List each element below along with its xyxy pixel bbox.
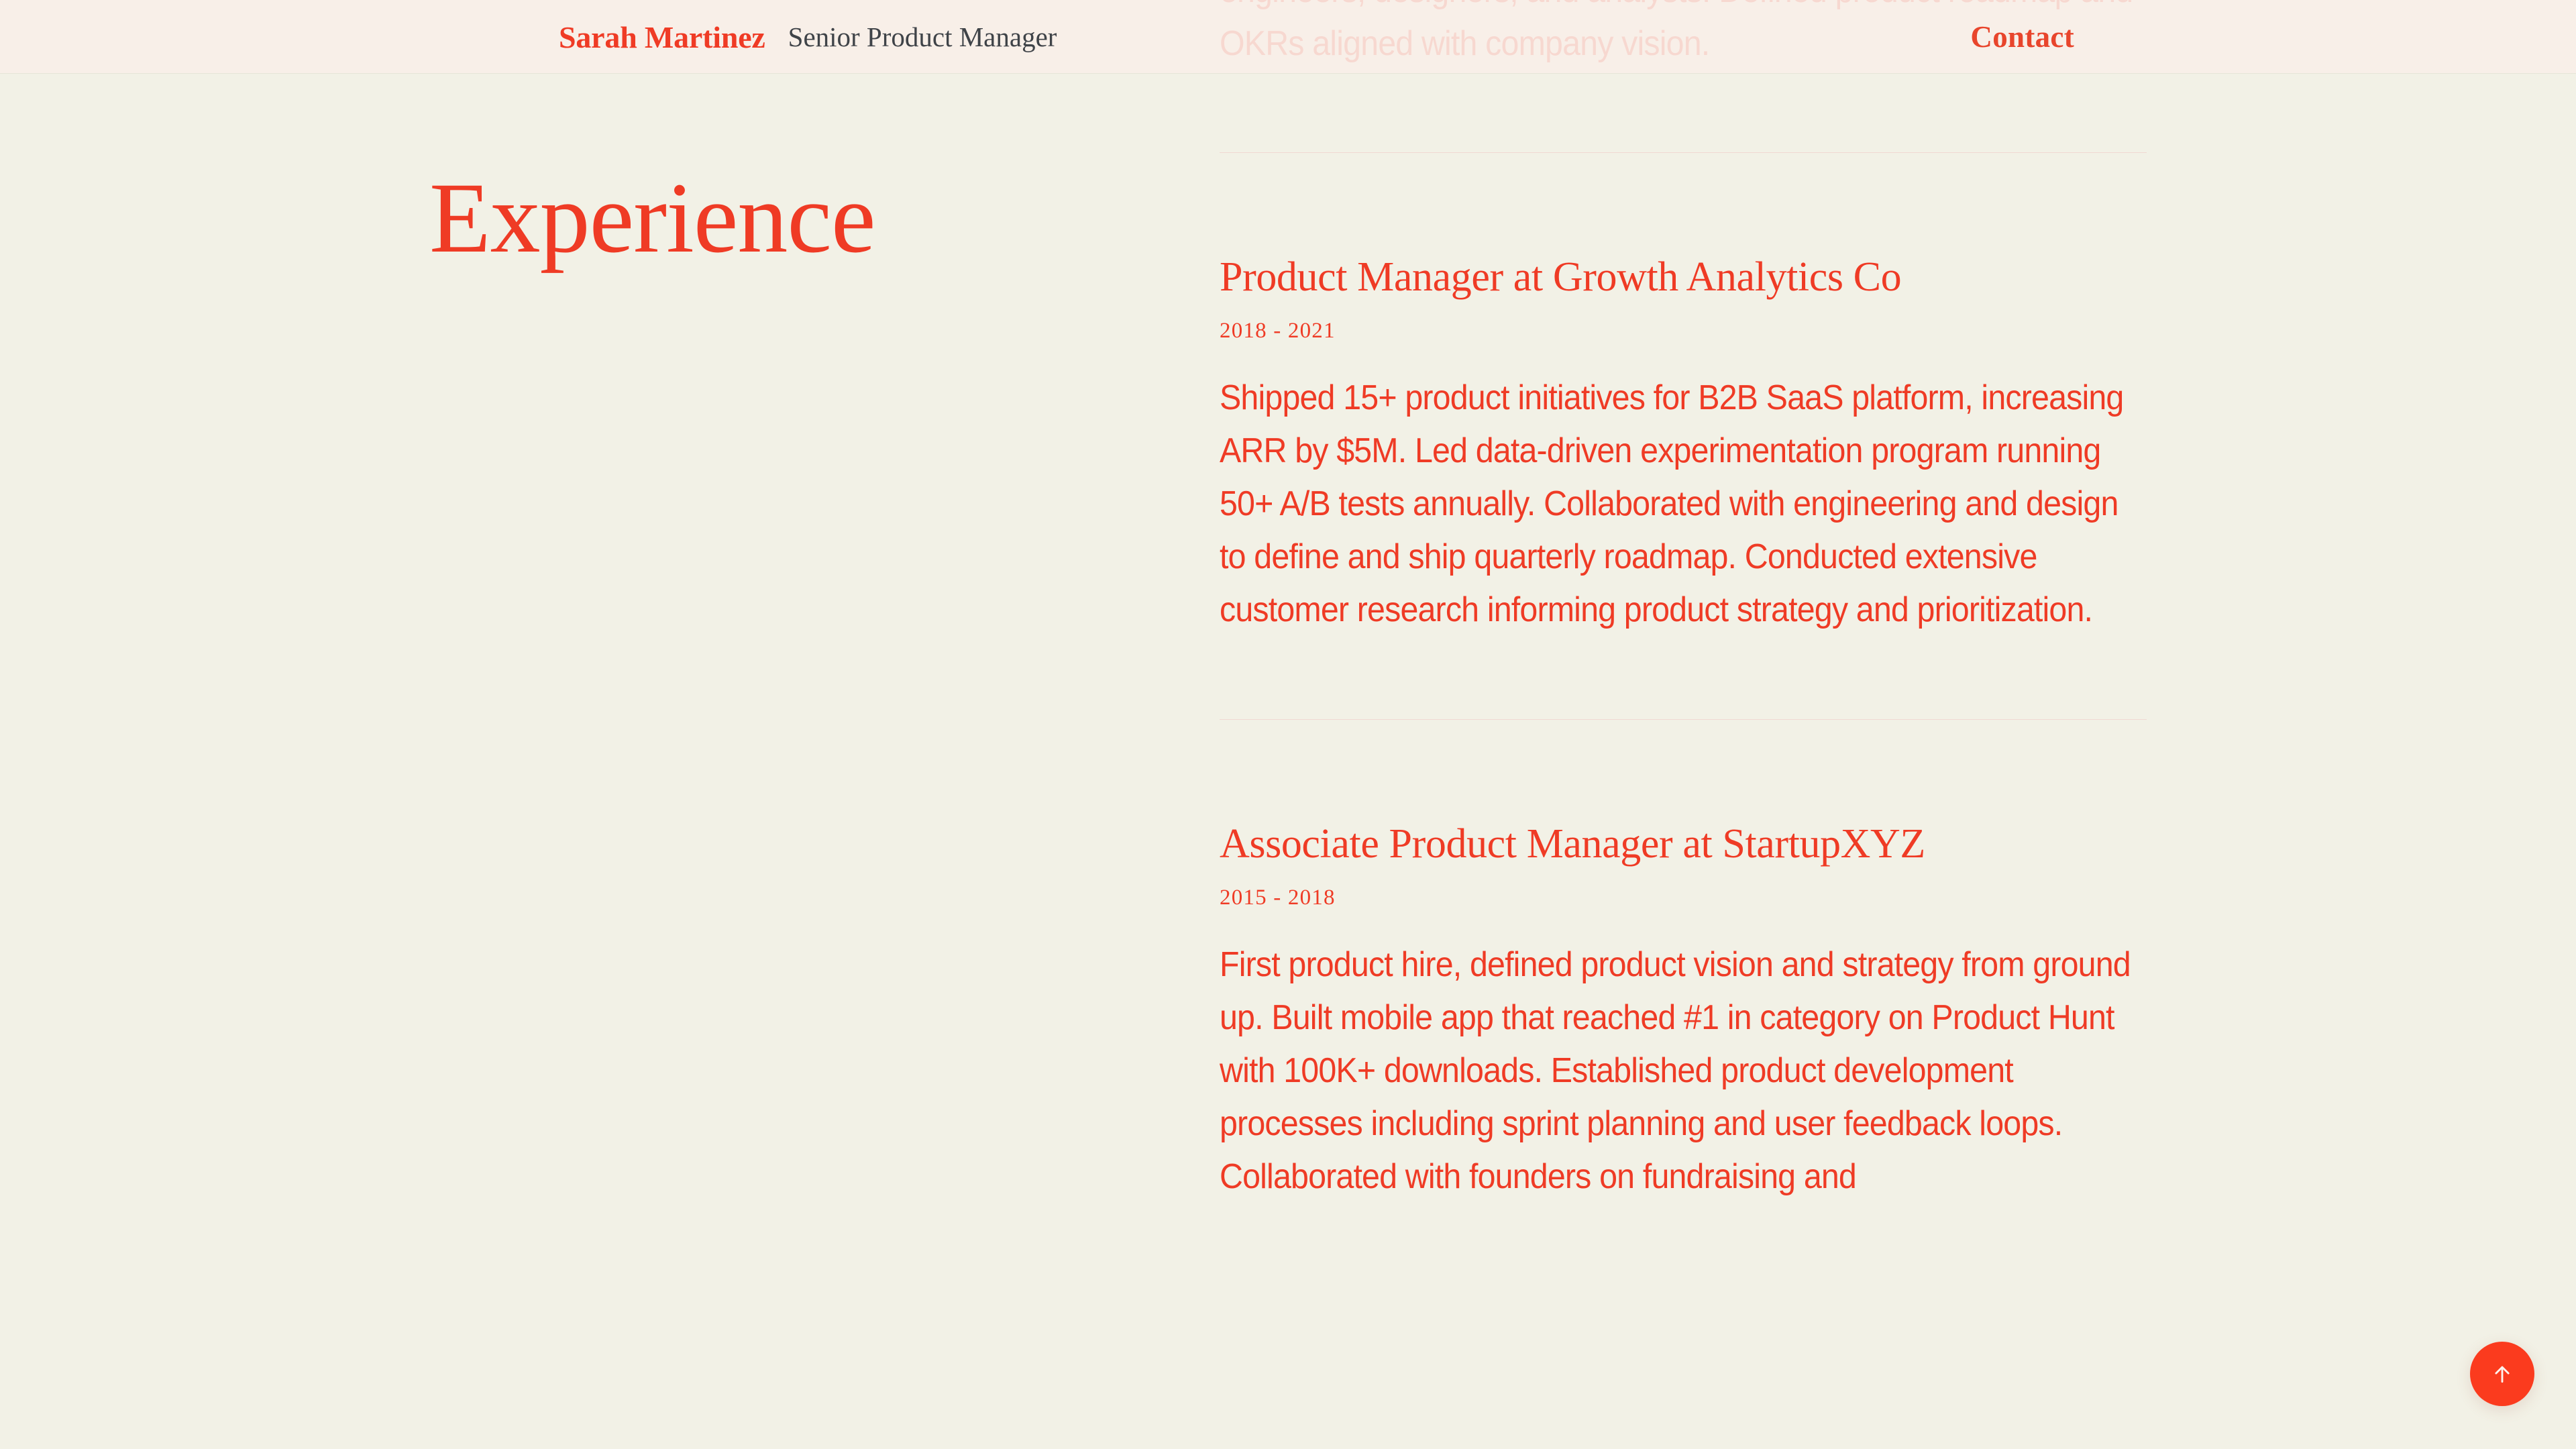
entry-description-wrap: First product hire, defined product visi… bbox=[1220, 938, 2147, 1203]
page-root: engineers, designers, and analysts. Defi… bbox=[0, 0, 2576, 1449]
nav-link-contact[interactable]: Contact bbox=[1970, 0, 2576, 74]
brand-name[interactable]: Sarah Martinez bbox=[559, 19, 765, 55]
entry-dates: 2018 - 2021 bbox=[1220, 319, 2147, 343]
arrow-up-icon bbox=[2489, 1360, 2516, 1387]
page-title: Experience bbox=[429, 168, 1167, 268]
section-heading-column: Experience bbox=[429, 168, 1167, 268]
brand-role: Senior Product Manager bbox=[788, 21, 1057, 53]
entry-role-title: Associate Product Manager at StartupXYZ bbox=[1220, 820, 2147, 868]
site-header: Sarah Martinez Senior Product Manager Co… bbox=[0, 0, 2576, 74]
experience-entry-growth-analytics: Product Manager at Growth Analytics Co 2… bbox=[1220, 254, 2147, 637]
entry-description: Shipped 15+ product initiatives for B2B … bbox=[1220, 372, 2147, 637]
entry-role-title: Product Manager at Growth Analytics Co bbox=[1220, 254, 2147, 301]
experience-entries-column: engineers, designers, and analysts. Defi… bbox=[1220, 0, 2147, 1203]
experience-entry-startupxyz: Associate Product Manager at StartupXYZ … bbox=[1220, 820, 2147, 1203]
entry-description-wrap: Shipped 15+ product initiatives for B2B … bbox=[1220, 372, 2147, 637]
entry-dates: 2015 - 2018 bbox=[1220, 885, 2147, 910]
entry-description: First product hire, defined product visi… bbox=[1220, 938, 2147, 1203]
scroll-to-top-button[interactable] bbox=[2470, 1342, 2534, 1406]
brand-group[interactable]: Sarah Martinez Senior Product Manager bbox=[559, 0, 1057, 74]
